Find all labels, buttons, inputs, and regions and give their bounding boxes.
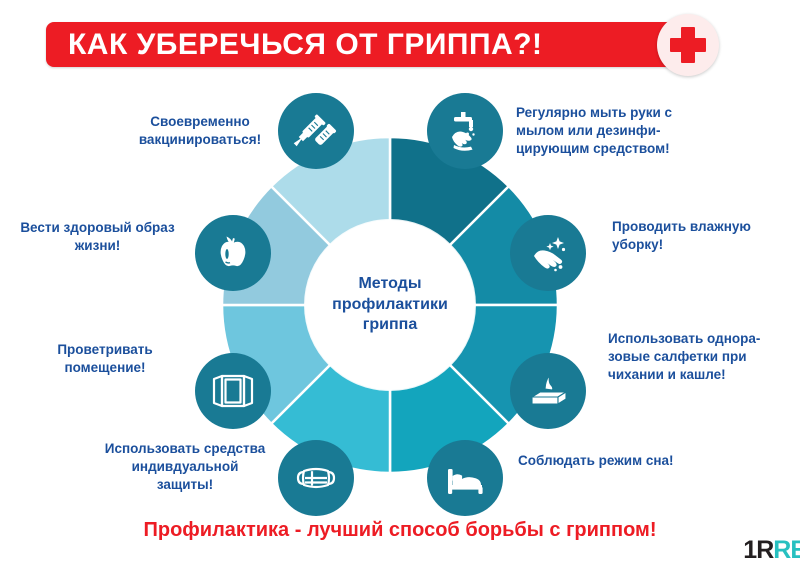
bubble-wash-hands[interactable] (427, 93, 503, 169)
syringe-icon (293, 108, 339, 154)
label-wet-cleaning: Проводить влажную уборку! (612, 218, 787, 254)
open-window-icon (208, 366, 258, 416)
label-healthy-life: Вести здоровый образ жизни! (0, 219, 195, 255)
bubble-ventilate[interactable] (195, 353, 271, 429)
wheel-hub-label: Методы профилактики гриппа (332, 274, 448, 335)
label-wash-hands: Регулярно мыть руки с мылом или дезинфи-… (516, 104, 726, 157)
watermark-part2: RE (773, 536, 800, 564)
bubble-sleep[interactable] (427, 440, 503, 516)
label-tissues: Использовать однора- зовые салфетки при … (608, 330, 793, 383)
wheel-hub: Методы профилактики гриппа (305, 220, 475, 390)
watermark: 1RRE (743, 538, 800, 563)
tissue-box-icon (524, 367, 572, 415)
label-ventilate: Проветривать помещение! (25, 341, 185, 377)
bubble-protection[interactable] (278, 440, 354, 516)
bubble-tissues[interactable] (510, 353, 586, 429)
title-banner: КАК УБЕРЕЧЬСЯ ОТ ГРИППА?! (46, 22, 708, 67)
watermark-part1: 1R (743, 536, 773, 564)
page-title: КАК УБЕРЕЧЬСЯ ОТ ГРИППА?! (46, 22, 708, 67)
bubble-healthy-life[interactable] (195, 215, 271, 291)
bubble-vaccination[interactable] (278, 93, 354, 169)
washing-hands-icon (441, 107, 489, 155)
bed-icon (441, 454, 489, 502)
label-sleep: Соблюдать режим сна! (518, 452, 718, 470)
label-vaccination: Своевременно вакцинироваться! (120, 113, 280, 149)
infographic-poster: КАК УБЕРЕЧЬСЯ ОТ ГРИППА?! Методы профила… (0, 0, 800, 565)
wiping-hand-icon (524, 229, 572, 277)
face-mask-icon (291, 453, 341, 503)
label-protection: Использовать средства индивдуальной защи… (85, 440, 285, 493)
red-cross-icon (657, 14, 719, 76)
apple-icon (209, 229, 257, 277)
bubble-wet-cleaning[interactable] (510, 215, 586, 291)
footer-slogan: Профилактика - лучший способ борьбы с гр… (0, 519, 800, 542)
